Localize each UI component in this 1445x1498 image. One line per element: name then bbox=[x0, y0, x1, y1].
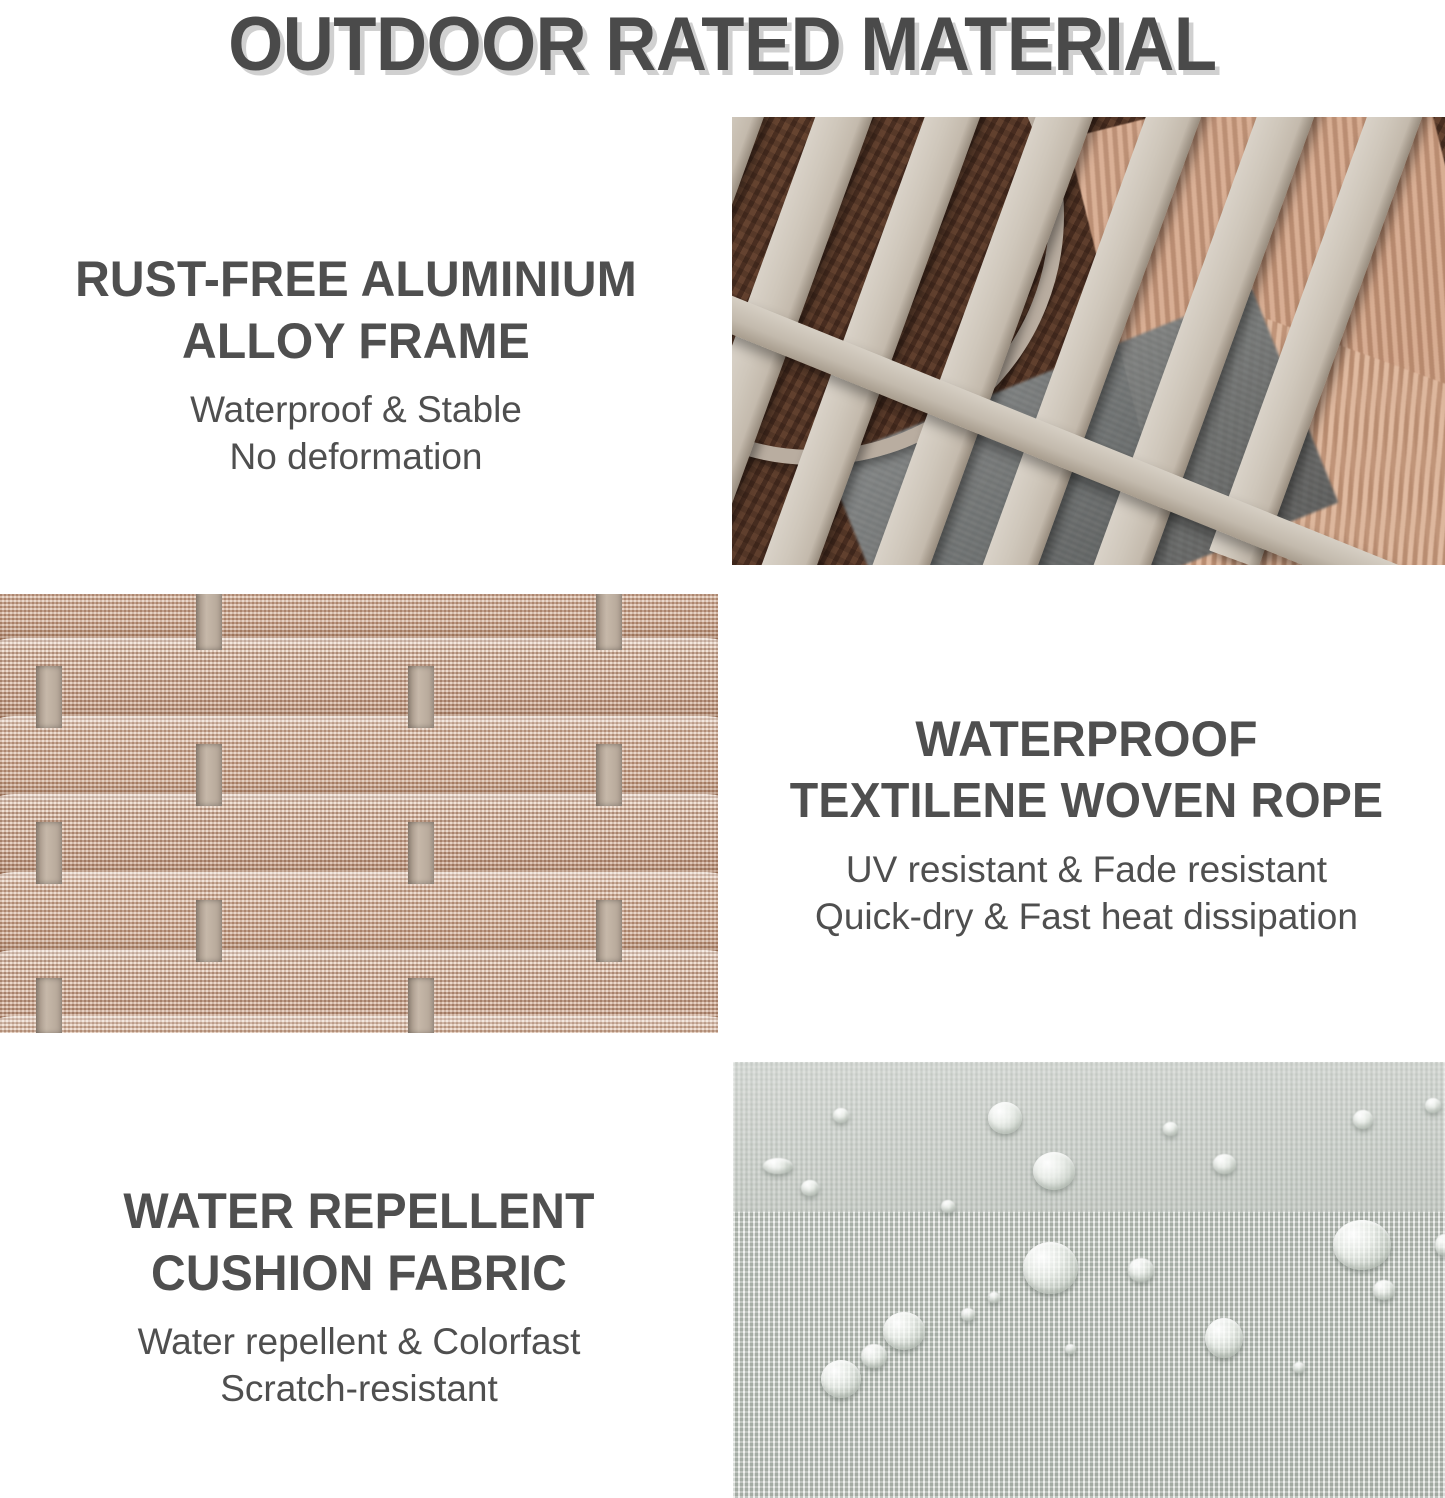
rope-weave-gap bbox=[196, 594, 222, 650]
page-title-bar: OUTDOOR RATED MATERIAL bbox=[0, 0, 1445, 90]
feature-heading-line-2: TEXTILENE WOVEN ROPE bbox=[746, 770, 1427, 832]
rope-weave-gap bbox=[36, 822, 62, 884]
rope-band bbox=[0, 638, 718, 724]
fabric-depth-blur bbox=[733, 1062, 1445, 1212]
water-droplet bbox=[1333, 1220, 1391, 1270]
water-droplet bbox=[1293, 1362, 1305, 1373]
photo-aluminium-frame bbox=[732, 117, 1445, 565]
page-title: OUTDOOR RATED MATERIAL bbox=[228, 4, 1216, 86]
water-droplet bbox=[988, 1102, 1022, 1134]
feature-subtext-line-2: Scratch-resistant bbox=[0, 1365, 718, 1412]
water-droplet bbox=[801, 1180, 819, 1196]
feature-subtext-line-1: Waterproof & Stable bbox=[0, 386, 712, 433]
feature-subtext-line-1: UV resistant & Fade resistant bbox=[728, 846, 1445, 893]
rope-weave-gap bbox=[408, 978, 434, 1033]
photo-water-repellent-fabric bbox=[733, 1062, 1445, 1498]
water-droplet bbox=[1128, 1258, 1154, 1282]
feature-block-woven-rope: WATERPROOF TEXTILENE WOVEN ROPE UV resis… bbox=[728, 708, 1445, 940]
water-droplet bbox=[961, 1308, 975, 1321]
water-droplet bbox=[861, 1344, 887, 1368]
feature-subtext: UV resistant & Fade resistant Quick-dry … bbox=[728, 846, 1445, 940]
water-droplet bbox=[1205, 1318, 1243, 1358]
rope-band bbox=[0, 1016, 718, 1033]
rope-weave-gap bbox=[36, 978, 62, 1033]
water-droplet bbox=[941, 1200, 955, 1213]
feature-heading-line-2: CUSHION FABRIC bbox=[14, 1242, 703, 1304]
water-droplet bbox=[1425, 1098, 1441, 1113]
water-droplet bbox=[1163, 1122, 1178, 1136]
feature-heading-line-1: WATERPROOF bbox=[742, 708, 1430, 770]
water-droplet bbox=[1065, 1344, 1076, 1354]
rope-band bbox=[0, 794, 718, 880]
rope-weave-gap bbox=[408, 666, 434, 728]
rope-weave-gap bbox=[196, 744, 222, 806]
water-droplet bbox=[1033, 1152, 1075, 1190]
water-droplet bbox=[1373, 1280, 1395, 1300]
rope-weave-gap bbox=[36, 666, 62, 728]
water-droplet bbox=[763, 1158, 793, 1174]
rope-weave-gap bbox=[408, 822, 434, 884]
feature-block-cushion-fabric: WATER REPELLENT CUSHION FABRIC Water rep… bbox=[0, 1180, 718, 1412]
rope-weave-gap bbox=[596, 744, 622, 806]
water-droplet bbox=[1023, 1242, 1078, 1294]
water-droplet bbox=[821, 1360, 861, 1398]
rope-weave-gap bbox=[596, 900, 622, 962]
rope-weave-gap bbox=[196, 900, 222, 962]
water-droplet bbox=[1435, 1234, 1445, 1256]
feature-subtext-line-2: Quick-dry & Fast heat dissipation bbox=[728, 893, 1445, 940]
water-droplet bbox=[833, 1108, 849, 1123]
water-droplet bbox=[1353, 1110, 1373, 1129]
water-droplet bbox=[1213, 1154, 1236, 1174]
rope-weave-gap bbox=[596, 594, 622, 650]
feature-subtext: Waterproof & Stable No deformation bbox=[0, 386, 712, 480]
feature-subtext: Water repellent & Colorfast Scratch-resi… bbox=[0, 1318, 718, 1412]
water-droplet bbox=[883, 1312, 925, 1350]
feature-heading-line-1: WATER REPELLENT bbox=[14, 1180, 703, 1242]
photo-woven-rope bbox=[0, 594, 718, 1033]
feature-block-aluminium-frame: RUST-FREE ALUMINIUM ALLOY FRAME Waterpro… bbox=[0, 248, 712, 480]
feature-subtext-line-2: No deformation bbox=[0, 433, 712, 480]
water-droplet bbox=[988, 1292, 1000, 1303]
feature-subtext-line-1: Water repellent & Colorfast bbox=[0, 1318, 718, 1365]
feature-heading-line-1: RUST-FREE ALUMINIUM bbox=[14, 248, 698, 310]
feature-heading-line-2: ALLOY FRAME bbox=[14, 310, 698, 372]
rope-band-group bbox=[0, 594, 718, 1033]
